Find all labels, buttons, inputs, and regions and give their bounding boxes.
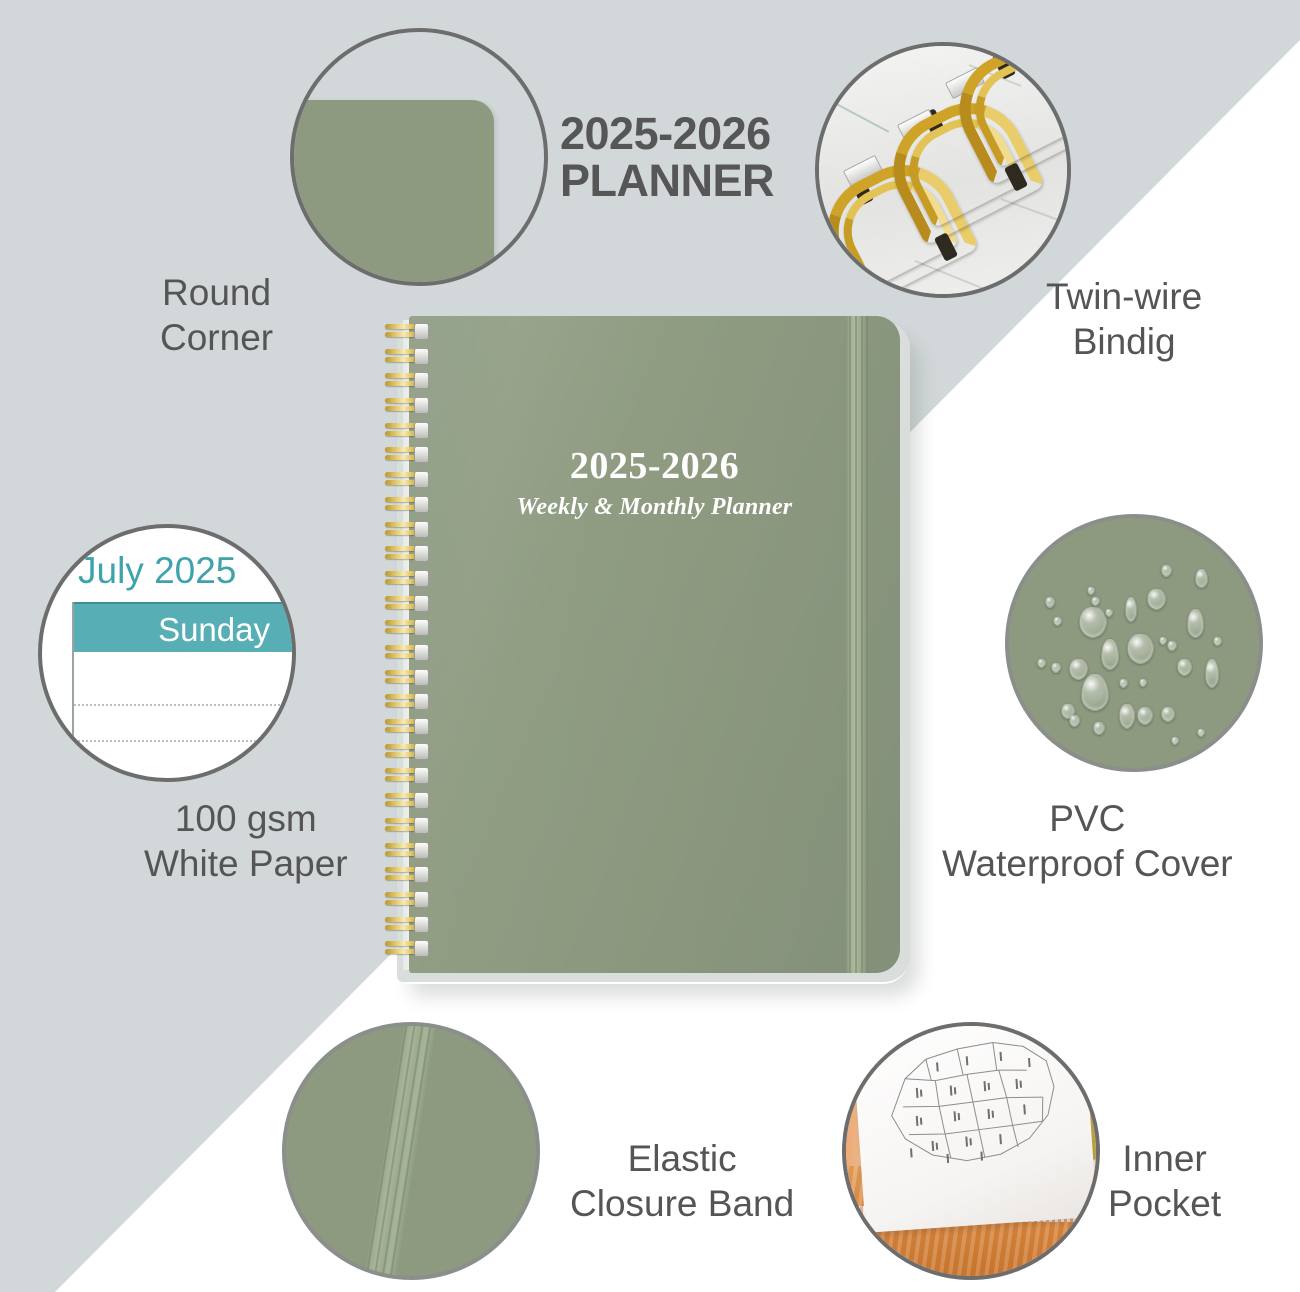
book-twin-wire-spiral bbox=[383, 324, 429, 966]
spiral-coil bbox=[385, 843, 427, 858]
cover-elastic-band-line bbox=[855, 316, 857, 973]
feature-label-twin-wire-line1: Twin-wire bbox=[1046, 274, 1202, 319]
spiral-coil bbox=[385, 818, 427, 833]
feature-label-elastic-line1: Elastic bbox=[570, 1136, 794, 1181]
cover-title-block: 2025-2026 Weekly & Monthly Planner bbox=[409, 444, 900, 521]
spiral-coil bbox=[385, 522, 427, 537]
cover-sheen bbox=[409, 316, 900, 973]
feature-label-paper-line1: 100 gsm bbox=[144, 796, 348, 841]
spiral-coil bbox=[385, 941, 427, 956]
feature-label-pvc-line1: PVC bbox=[942, 796, 1233, 841]
calendar-dotted-line bbox=[74, 704, 296, 706]
inner-pocket-photo-icon: V bbox=[846, 1026, 1096, 1276]
feature-circle-inner-pocket: V bbox=[842, 1022, 1100, 1280]
page-title: 2025-2026 PLANNER bbox=[560, 110, 850, 205]
feature-label-pocket-line2: Pocket bbox=[1108, 1181, 1221, 1226]
feature-label-pvc-waterproof-cover: PVC Waterproof Cover bbox=[942, 796, 1233, 886]
spiral-coil bbox=[385, 571, 427, 586]
calendar-page-preview-icon: July 2025 Sunday bbox=[42, 528, 292, 778]
feature-label-paper-line2: White Paper bbox=[144, 841, 348, 886]
feature-circle-twin-wire-binding bbox=[815, 42, 1071, 298]
cover-elastic-band-line bbox=[861, 316, 863, 973]
infographic-canvas: 2025-2026 PLANNER Round Corner bbox=[0, 0, 1300, 1292]
spiral-coil bbox=[385, 447, 427, 462]
calendar-month-label: July 2025 bbox=[78, 550, 236, 592]
spiral-coil bbox=[385, 867, 427, 882]
calendar-day-header: Sunday bbox=[72, 602, 296, 652]
page-title-line2: PLANNER bbox=[560, 157, 850, 204]
planner-product-image: 2025-2026 Weekly & Monthly Planner bbox=[383, 316, 910, 986]
spiral-coil bbox=[385, 398, 427, 413]
cover-title-year: 2025-2026 bbox=[409, 444, 900, 488]
cover-elastic-band-line bbox=[849, 316, 851, 973]
feature-circle-round-corner bbox=[290, 28, 548, 286]
feature-label-twin-wire-binding: Twin-wire Bindig bbox=[1046, 274, 1202, 364]
spiral-coil bbox=[385, 546, 427, 561]
spiral-coil bbox=[385, 694, 427, 709]
spiral-coil bbox=[385, 645, 427, 660]
cover-subtitle: Weekly & Monthly Planner bbox=[409, 494, 900, 521]
elastic-band-stripe-icon bbox=[286, 1026, 536, 1276]
spiral-coil bbox=[385, 620, 427, 635]
spiral-coil bbox=[385, 472, 427, 487]
spiral-coil bbox=[385, 917, 427, 932]
spiral-coil bbox=[385, 596, 427, 611]
twin-wire-coil-photo-icon bbox=[819, 46, 1067, 294]
spiral-coil bbox=[385, 892, 427, 907]
spiral-coil bbox=[385, 373, 427, 388]
feature-label-elastic-line2: Closure Band bbox=[570, 1181, 794, 1226]
calendar-vertical-rule bbox=[72, 602, 74, 750]
feature-label-round-corner-line1: Round bbox=[160, 270, 273, 315]
cover-elastic-band-line bbox=[866, 316, 868, 973]
spiral-coil bbox=[385, 744, 427, 759]
rounded-corner-swatch-icon bbox=[290, 100, 494, 286]
spiral-coil bbox=[385, 670, 427, 685]
feature-label-pocket-line1: Inner bbox=[1108, 1136, 1221, 1181]
feature-label-elastic-closure-band: Elastic Closure Band bbox=[570, 1136, 794, 1226]
water-droplets-icon bbox=[1009, 518, 1259, 768]
feature-circle-elastic-closure-band bbox=[282, 1022, 540, 1280]
page-title-line1: 2025-2026 bbox=[560, 108, 771, 159]
feature-label-paper-weight: 100 gsm White Paper bbox=[144, 796, 348, 886]
feature-label-pvc-line2: Waterproof Cover bbox=[942, 841, 1233, 886]
feature-label-round-corner: Round Corner bbox=[160, 270, 273, 360]
feature-circle-pvc-waterproof-cover bbox=[1005, 514, 1263, 772]
spiral-coil bbox=[385, 423, 427, 438]
spiral-coil bbox=[385, 793, 427, 808]
spiral-coil bbox=[385, 324, 427, 339]
feature-label-inner-pocket: Inner Pocket bbox=[1108, 1136, 1221, 1226]
spiral-coil bbox=[385, 497, 427, 512]
feature-label-round-corner-line2: Corner bbox=[160, 315, 273, 360]
us-map-outline-icon bbox=[871, 1022, 1072, 1191]
spiral-coil bbox=[385, 349, 427, 364]
spiral-coil bbox=[385, 719, 427, 734]
calendar-dotted-line bbox=[74, 740, 296, 742]
feature-circle-paper-weight: July 2025 Sunday bbox=[38, 524, 296, 782]
feature-label-twin-wire-line2: Bindig bbox=[1046, 319, 1202, 364]
calendar-day-header-label: Sunday bbox=[158, 611, 270, 649]
book-front-cover: 2025-2026 Weekly & Monthly Planner bbox=[409, 316, 900, 973]
spiral-coil bbox=[385, 768, 427, 783]
